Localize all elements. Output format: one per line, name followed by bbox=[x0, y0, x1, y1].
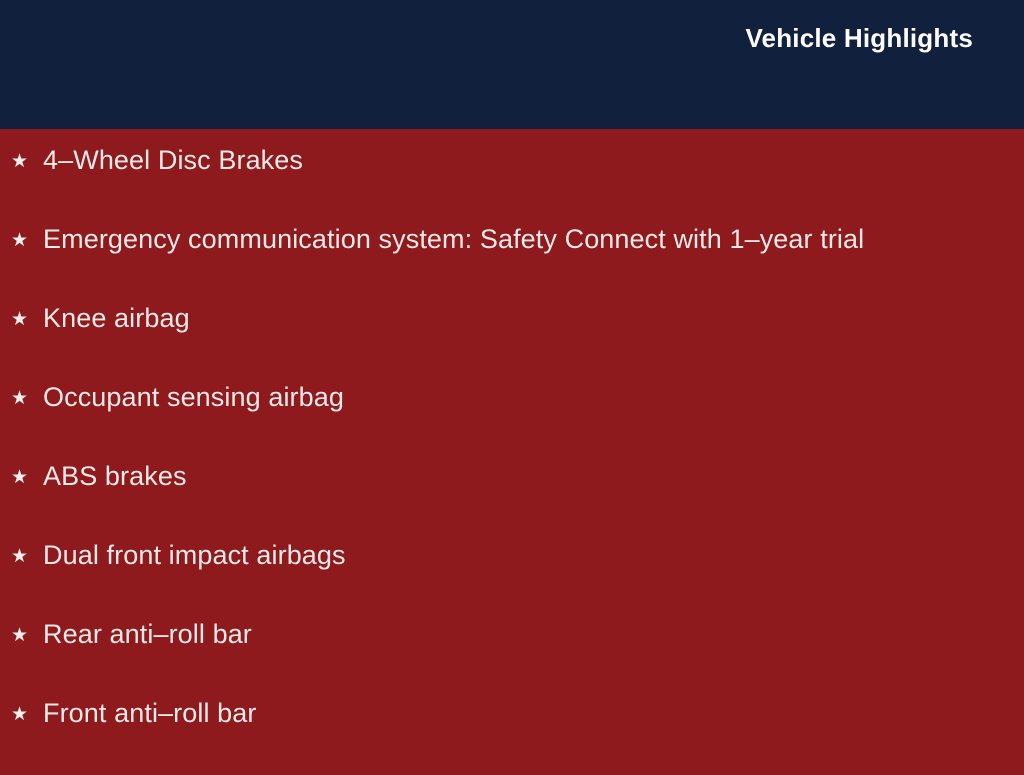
list-item: ★ Occupant sensing airbag bbox=[0, 380, 1024, 459]
list-item: ★ Emergency communication system: Safety… bbox=[0, 222, 1024, 301]
page-title: Vehicle Highlights bbox=[745, 24, 973, 53]
star-icon: ★ bbox=[11, 705, 43, 724]
star-icon: ★ bbox=[11, 152, 43, 171]
slide-body: ★ 4–Wheel Disc Brakes ★ Emergency commun… bbox=[0, 129, 1024, 775]
star-icon: ★ bbox=[11, 310, 43, 329]
list-item-label: Emergency communication system: Safety C… bbox=[43, 222, 864, 256]
list-item: ★ Dual front impact airbags bbox=[0, 538, 1024, 617]
list-item-label: Occupant sensing airbag bbox=[43, 380, 344, 414]
star-icon: ★ bbox=[11, 389, 43, 408]
list-item: ★ Knee airbag bbox=[0, 301, 1024, 380]
slide-header: Vehicle Highlights bbox=[0, 0, 1024, 129]
list-item-label: ABS brakes bbox=[43, 459, 187, 493]
vehicle-highlights-list: ★ 4–Wheel Disc Brakes ★ Emergency commun… bbox=[0, 129, 1024, 775]
list-item-label: Knee airbag bbox=[43, 301, 190, 335]
list-item: ★ ABS brakes bbox=[0, 459, 1024, 538]
list-item-label: Dual front impact airbags bbox=[43, 538, 346, 572]
list-item: ★ 4–Wheel Disc Brakes bbox=[0, 143, 1024, 222]
list-item-label: Front anti–roll bar bbox=[43, 696, 257, 730]
list-item-label: Rear anti–roll bar bbox=[43, 617, 252, 651]
list-item: ★ Rear anti–roll bar bbox=[0, 617, 1024, 696]
slide: Vehicle Highlights ★ 4–Wheel Disc Brakes… bbox=[0, 0, 1024, 768]
list-item-label: 4–Wheel Disc Brakes bbox=[43, 143, 303, 177]
star-icon: ★ bbox=[11, 547, 43, 566]
star-icon: ★ bbox=[11, 231, 43, 250]
star-icon: ★ bbox=[11, 626, 43, 645]
list-item: ★ Front anti–roll bar bbox=[0, 696, 1024, 775]
star-icon: ★ bbox=[11, 468, 43, 487]
